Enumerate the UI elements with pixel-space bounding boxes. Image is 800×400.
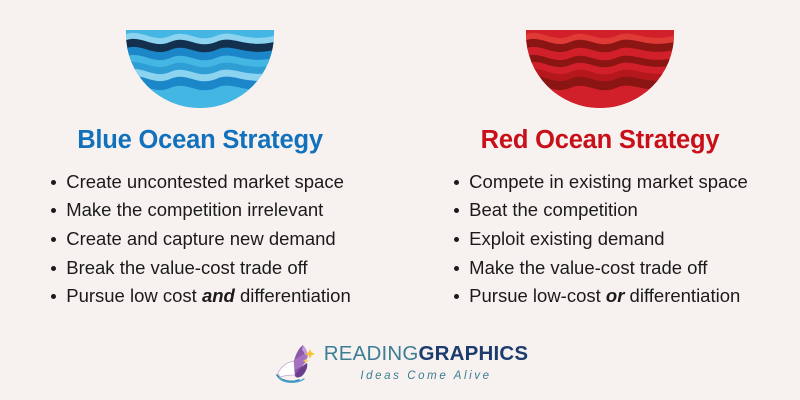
footer-branding: READINGGRAPHICS Ideas Come Alive (0, 340, 800, 386)
list-item: Compete in existing market space (452, 168, 748, 197)
column-title-blue-ocean: Blue Ocean Strategy (77, 128, 323, 154)
bullet-text-after: differentiation (624, 285, 740, 306)
bullet-text: Break the value-cost trade off (66, 257, 307, 278)
bullet-emphasis: or (606, 285, 625, 306)
list-item: Create uncontested market space (49, 168, 351, 197)
list-item: Make the value-cost trade off (452, 254, 748, 283)
logo-word-reading: READING (324, 342, 419, 365)
bullet-text-before: Pursue low cost (66, 285, 202, 306)
bullet-text: Compete in existing market space (469, 171, 748, 192)
infographic-root: Blue Ocean Strategy Create uncontested m… (0, 0, 800, 400)
list-item: Pursue low-cost or differentiation (452, 282, 748, 311)
list-item: Beat the competition (452, 196, 748, 225)
bullet-text: Exploit existing demand (469, 228, 664, 249)
bullet-text: Create and capture new demand (66, 228, 335, 249)
logo-tagline: Ideas Come Alive (360, 370, 491, 382)
column-title-red-ocean: Red Ocean Strategy (481, 128, 720, 154)
reading-graphics-book-logo-icon (272, 340, 318, 386)
red-ocean-waves-icon (526, 30, 674, 108)
logo-text-block: READINGGRAPHICS Ideas Come Alive (324, 344, 529, 382)
bullet-text-before: Pursue low-cost (469, 285, 606, 306)
comparison-columns: Blue Ocean Strategy Create uncontested m… (0, 0, 800, 320)
bullet-text: Create uncontested market space (66, 171, 344, 192)
bullet-list-blue-ocean: Create uncontested market space Make the… (49, 168, 351, 311)
list-item: Exploit existing demand (452, 225, 748, 254)
bullet-text: Make the value-cost trade off (469, 257, 707, 278)
list-item: Create and capture new demand (49, 225, 351, 254)
column-red-ocean: Red Ocean Strategy Compete in existing m… (400, 0, 800, 320)
bullet-text-after: differentiation (235, 285, 351, 306)
column-blue-ocean: Blue Ocean Strategy Create uncontested m… (0, 0, 400, 320)
bullet-text: Beat the competition (469, 199, 638, 220)
list-item: Make the competition irrelevant (49, 196, 351, 225)
bullet-text: Make the competition irrelevant (66, 199, 323, 220)
list-item: Break the value-cost trade off (49, 254, 351, 283)
logo-word-graphics: GRAPHICS (419, 342, 529, 365)
blue-ocean-waves-icon (126, 30, 274, 108)
bullet-list-red-ocean: Compete in existing market space Beat th… (452, 168, 748, 311)
logo-wordmark: READINGGRAPHICS (324, 344, 529, 365)
list-item: Pursue low cost and differentiation (49, 282, 351, 311)
bullet-emphasis: and (202, 285, 235, 306)
